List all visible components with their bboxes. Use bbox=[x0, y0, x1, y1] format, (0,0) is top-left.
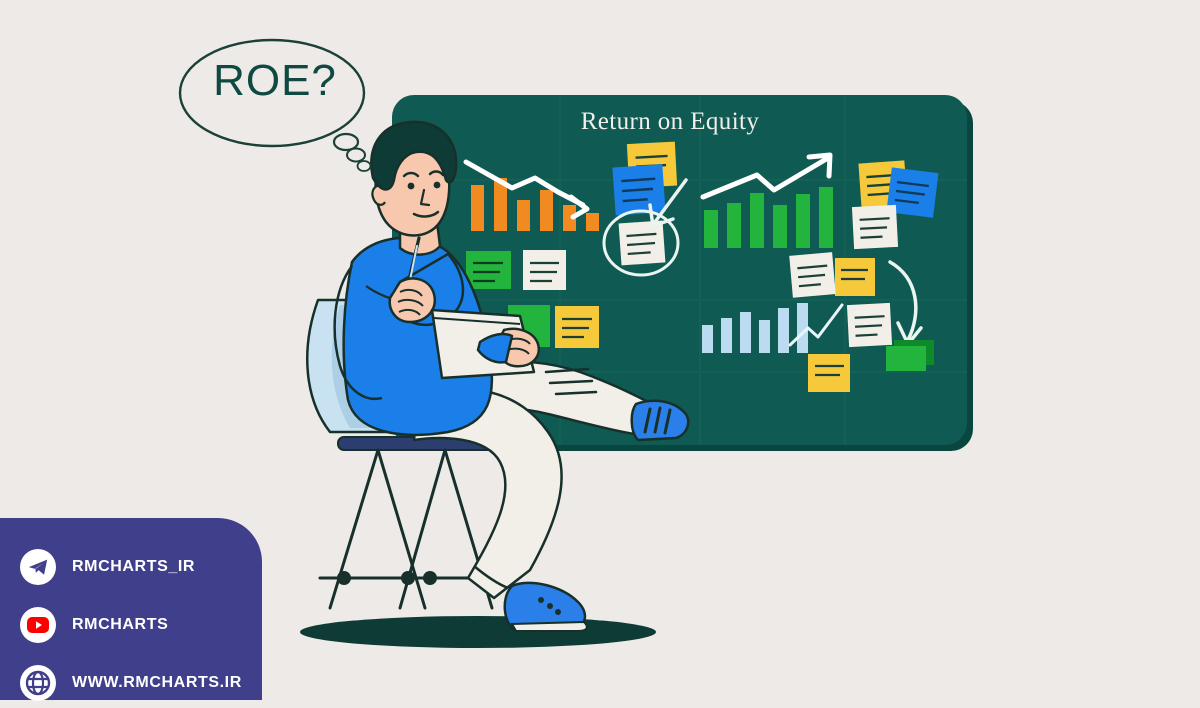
list-item bbox=[808, 354, 850, 392]
floor-shadow bbox=[300, 616, 656, 648]
list-item bbox=[835, 258, 875, 296]
list-item bbox=[847, 303, 892, 347]
list-item bbox=[789, 252, 835, 298]
brand-item-telegram[interactable]: RMCHARTS_IR bbox=[20, 542, 262, 592]
brand-label: RMCHARTS bbox=[72, 616, 168, 634]
list-item bbox=[619, 220, 666, 265]
brand-label: RMCHARTS_IR bbox=[72, 558, 195, 576]
thought-bubble-text: ROE? bbox=[186, 56, 364, 106]
list-item bbox=[852, 205, 898, 249]
list-item bbox=[612, 164, 665, 215]
telegram-icon bbox=[20, 549, 56, 585]
brand-item-website[interactable]: WWW.RMCHARTS.IR bbox=[20, 658, 262, 708]
branding-panel: RMCHARTS_IR RMCHARTS WWW.RMCHARTS.IR bbox=[0, 518, 262, 700]
list-item bbox=[523, 250, 566, 290]
list-item bbox=[466, 251, 511, 289]
youtube-icon bbox=[20, 607, 56, 643]
brand-item-youtube[interactable]: RMCHARTS bbox=[20, 600, 262, 650]
board-title: Return on Equity bbox=[520, 108, 820, 136]
brand-label: WWW.RMCHARTS.IR bbox=[72, 674, 242, 692]
globe-icon bbox=[20, 665, 56, 701]
list-item bbox=[555, 306, 599, 348]
